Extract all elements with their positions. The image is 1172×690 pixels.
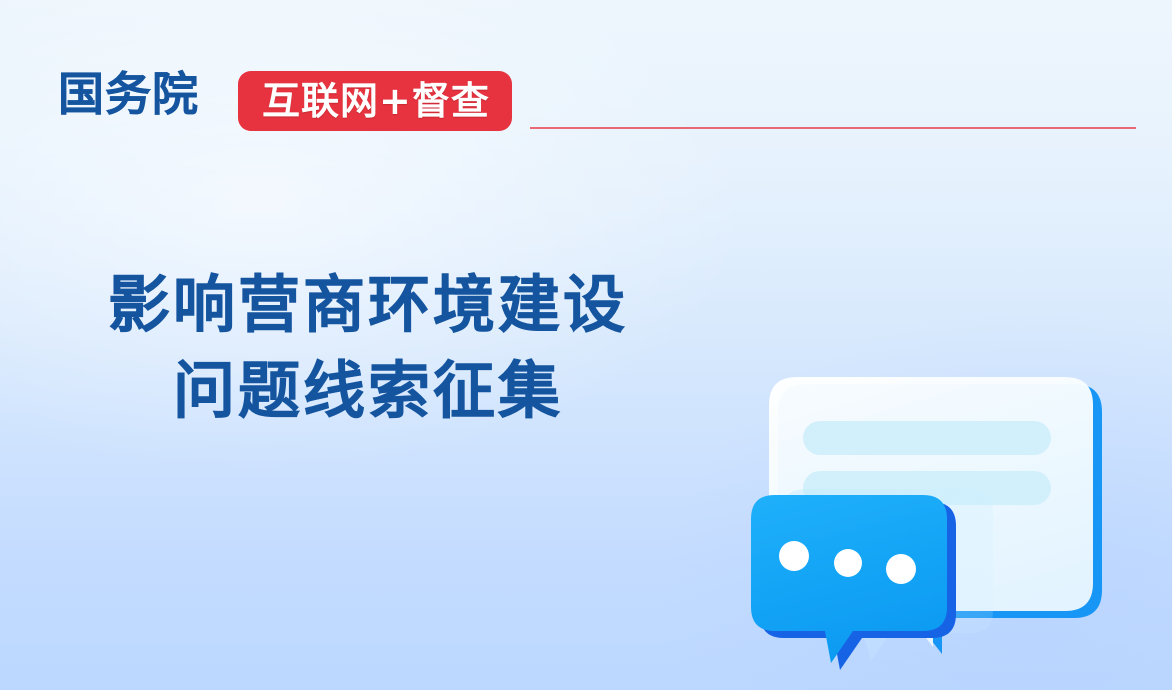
organization-name: 国务院 [58, 62, 199, 126]
chat-bubbles-illustration [745, 355, 1145, 685]
title-line-2: 问题线索征集 [58, 348, 678, 434]
typing-dot [886, 554, 916, 584]
page-title: 影响营商环境建设 问题线索征集 [58, 262, 678, 434]
typing-dot [779, 541, 809, 571]
poster-banner: 国务院 互联网+督查 影响营商环境建设 问题线索征集 [0, 0, 1172, 690]
title-line-1: 影响营商环境建设 [58, 262, 678, 348]
header-divider-line [530, 127, 1136, 129]
chat-bubbles-svg [745, 355, 1145, 685]
program-badge: 互联网+督查 [238, 71, 512, 131]
typing-dot [834, 549, 862, 577]
program-badge-label: 互联网+督查 [262, 82, 490, 120]
banner-header: 国务院 互联网+督查 [58, 62, 1136, 134]
